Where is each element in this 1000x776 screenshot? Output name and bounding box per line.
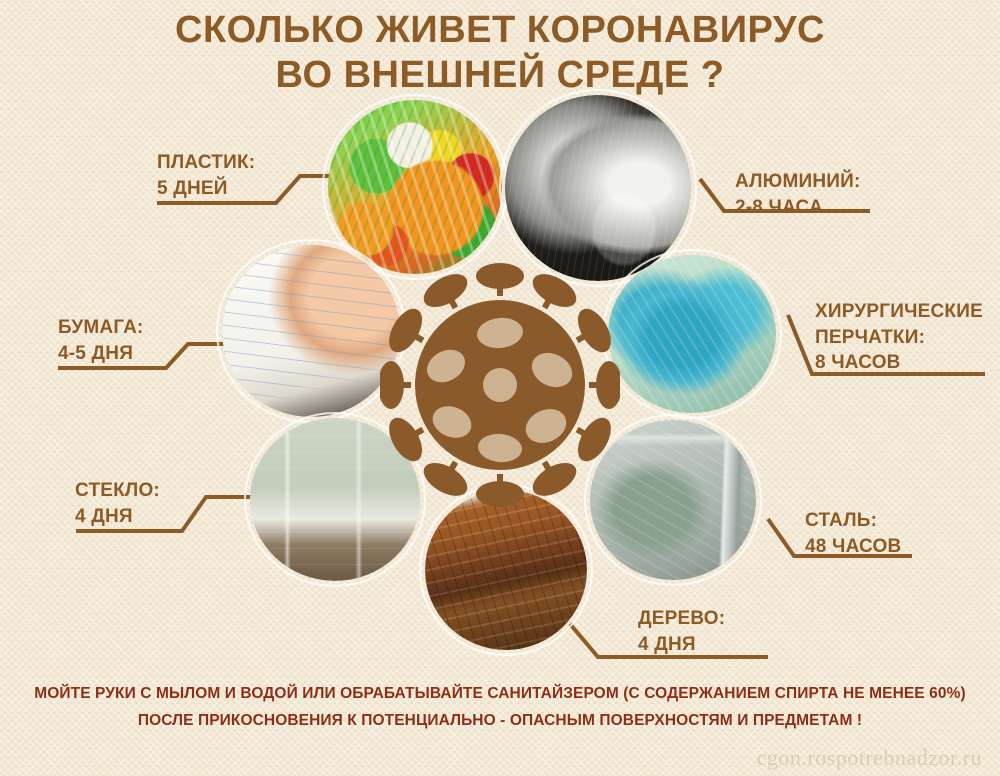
label-gloves: ХИРУРГИЧЕСКИЕ ПЕРЧАТКИ: 8 ЧАСОВ — [815, 299, 983, 376]
label-paper-material: БУМАГА: — [58, 315, 144, 341]
footer-line-2: ПОСЛЕ ПРИКОСНОВЕНИЯ К ПОТЕНЦИАЛЬНО - ОПА… — [0, 707, 1000, 734]
label-aluminum-duration: 2-8 ЧАСА — [735, 195, 861, 221]
label-steel-duration: 48 ЧАСОВ — [805, 534, 901, 560]
label-glass: СТЕКЛО: 4 ДНЯ — [75, 478, 160, 529]
label-wood-material: ДЕРЕВО: — [638, 606, 725, 632]
label-paper: БУМАГА: 4-5 ДНЯ — [58, 315, 144, 366]
label-wood-duration: 4 ДНЯ — [638, 632, 725, 658]
label-paper-duration: 4-5 ДНЯ — [58, 341, 144, 367]
label-gloves-material-line-2: ПЕРЧАТКИ: — [815, 325, 983, 351]
label-glass-duration: 4 ДНЯ — [75, 504, 160, 530]
aluminum-pot-photo — [505, 95, 691, 281]
title-line-2: ВО ВНЕШНЕЙ СРЕДЕ ? — [0, 53, 1000, 98]
label-gloves-duration: 8 ЧАСОВ — [815, 350, 983, 376]
aluminum-pot-image — [505, 95, 691, 281]
page-title: СКОЛЬКО ЖИВЕТ КОРОНАВИРУС ВО ВНЕШНЕЙ СРЕ… — [0, 8, 1000, 98]
label-aluminum-material: АЛЮМИНИЙ: — [735, 169, 861, 195]
label-plastic: ПЛАСТИК: 5 ДНЕЙ — [157, 150, 255, 201]
watermark: cgon.rospotrebnadzor.ru — [757, 745, 982, 771]
label-plastic-duration: 5 ДНЕЙ — [157, 176, 255, 202]
coronavirus-illustration — [380, 262, 620, 508]
label-aluminum: АЛЮМИНИЙ: 2-8 ЧАСА — [735, 169, 861, 220]
label-steel-material: СТАЛЬ: — [805, 508, 901, 534]
wooden-table-image — [425, 490, 587, 650]
notebook-paper-image — [222, 245, 400, 417]
label-glass-material: СТЕКЛО: — [75, 478, 160, 504]
label-steel: СТАЛЬ: 48 ЧАСОВ — [805, 508, 901, 559]
label-gloves-material-line-1: ХИРУРГИЧЕСКИЕ — [815, 299, 983, 325]
label-plastic-material: ПЛАСТИК: — [157, 150, 255, 176]
notebook-paper-photo — [222, 245, 400, 417]
surgical-gloves-image — [608, 255, 776, 413]
title-line-1: СКОЛЬКО ЖИВЕТ КОРОНАВИРУС — [175, 9, 825, 51]
wooden-table-photo — [425, 490, 587, 650]
infographic-canvas: СКОЛЬКО ЖИВЕТ КОРОНАВИРУС ВО ВНЕШНЕЙ СРЕ… — [0, 0, 1000, 776]
footer-advice: МОЙТЕ РУКИ С МЫЛОМ И ВОДОЙ ИЛИ ОБРАБАТЫВ… — [0, 680, 1000, 734]
surgical-gloves-photo — [608, 255, 776, 413]
footer-line-1: МОЙТЕ РУКИ С МЫЛОМ И ВОДОЙ ИЛИ ОБРАБАТЫВ… — [0, 680, 1000, 707]
label-wood: ДЕРЕВО: 4 ДНЯ — [638, 606, 725, 657]
